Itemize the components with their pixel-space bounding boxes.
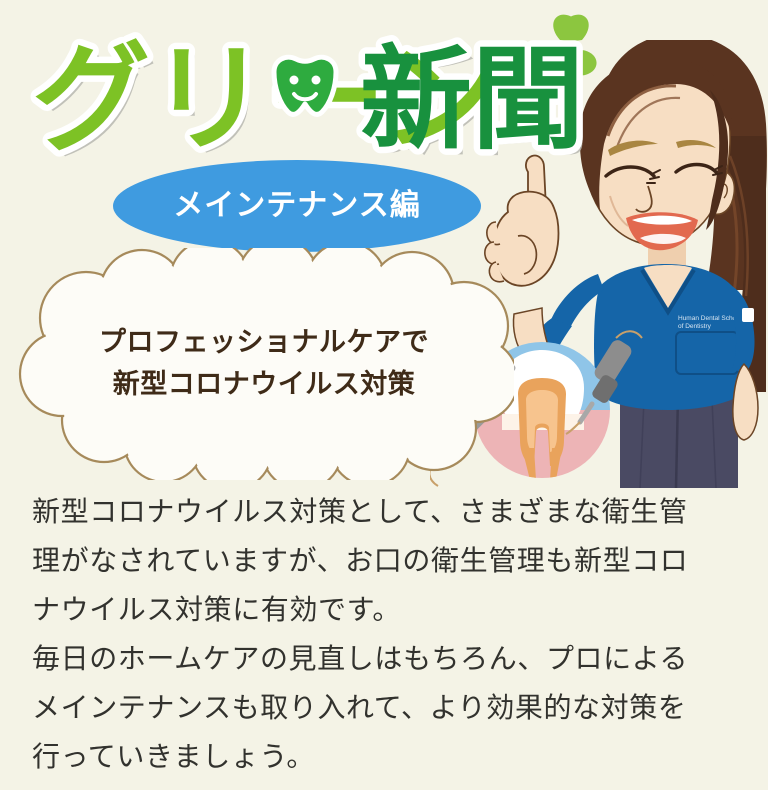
sleeve-tag [742,308,754,322]
smiling-tooth-icon [274,57,336,114]
masthead: グリーン 新聞 グリーン 新聞 グリーン 新聞 [0,0,768,180]
uniform-text-line1: Human Dental School [678,315,742,322]
edition-badge: メインテナンス編 [113,160,481,252]
body-copy: 新型コロナウイルス対策として、さまざまな衛生管 理がなされていますが、お口の衛生… [32,487,742,781]
body-paragraph-2: 毎日のホームケアの見直しはもちろん、プロによる メインテナンスも取り入れて、より… [32,634,742,781]
uniform-text-line2: of Dentistry [678,323,712,330]
title-fill-dark: 新聞 [360,37,584,162]
body-paragraph-1: 新型コロナウイルス対策として、さまざまな衛生管 理がなされていますが、お口の衛生… [32,487,742,634]
newsletter-graphic: Human Dental School of Dentistry [0,0,768,790]
headline-bubble [14,248,514,480]
cloud-interior [22,248,514,480]
edition-badge-label: メインテナンス編 [173,191,420,221]
